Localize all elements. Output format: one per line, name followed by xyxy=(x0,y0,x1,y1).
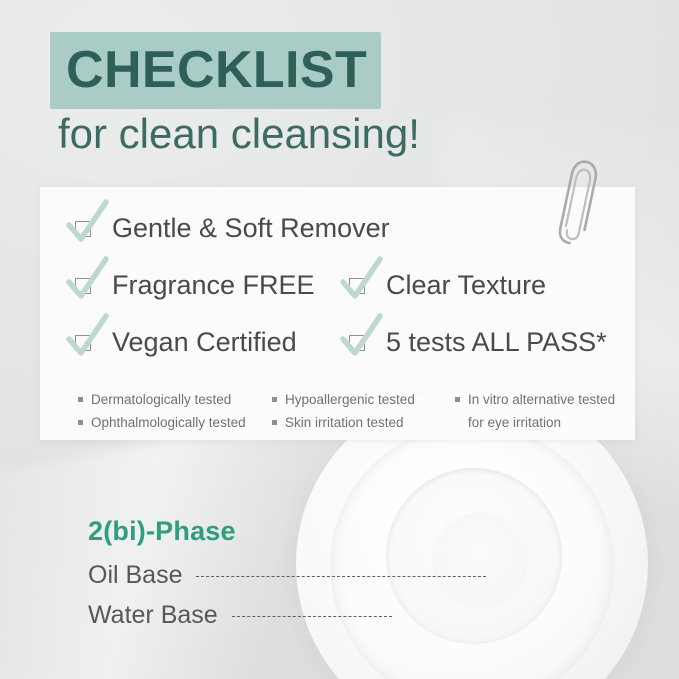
checkbox-square xyxy=(349,335,365,351)
phase-label: Water Base xyxy=(88,603,218,628)
checklist-item-label: Fragrance FREE xyxy=(112,272,315,299)
test-item-label: In vitro alternative tested xyxy=(468,388,615,411)
checklist-item-label: Vegan Certified xyxy=(112,329,297,356)
test-item: Dermatologically tested xyxy=(78,388,246,411)
checklist-item-label: Gentle & Soft Remover xyxy=(112,215,390,242)
phase-title: 2(bi)-Phase xyxy=(88,518,236,545)
test-item: In vitro alternative tested xyxy=(455,388,615,411)
cosmetic-pad-core xyxy=(432,512,528,608)
cosmetic-pad-rim xyxy=(330,424,614,679)
checklist-items: Gentle & Soft Remover Fragrance FREE Veg… xyxy=(40,187,635,362)
phase-label: Oil Base xyxy=(88,563,182,588)
checklist-item-clear-texture[interactable]: Clear Texture xyxy=(340,264,546,306)
bullet-icon xyxy=(455,397,460,402)
bullet-icon xyxy=(272,420,277,425)
checklist-item-label: Clear Texture xyxy=(386,272,546,299)
checkbox-clear-texture[interactable] xyxy=(340,264,382,306)
test-item-label: Skin irritation tested xyxy=(285,411,404,434)
checkbox-five-tests-all-pass[interactable] xyxy=(340,321,382,363)
checklist-item-fragrance-free[interactable]: Fragrance FREE xyxy=(66,264,315,306)
test-item-label: Ophthalmologically tested xyxy=(91,411,246,434)
checkbox-gentle-soft-remover[interactable] xyxy=(66,207,108,249)
page-title-text: CHECKLIST xyxy=(50,32,381,109)
phase-row-water-base: Water Base xyxy=(88,603,392,628)
bullet-icon xyxy=(78,397,83,402)
tests-column-2: Hypoallergenic tested Skin irritation te… xyxy=(272,388,415,434)
bullet-icon xyxy=(78,420,83,425)
phase-dash-line xyxy=(232,616,392,617)
checklist-item-gentle-soft-remover[interactable]: Gentle & Soft Remover xyxy=(66,207,390,249)
test-item: Hypoallergenic tested xyxy=(272,388,415,411)
test-item-label: for eye irritation xyxy=(468,411,561,434)
product-infographic: CHECKLIST for clean cleansing! Gentle & … xyxy=(0,0,679,679)
phase-row-oil-base: Oil Base xyxy=(88,563,486,588)
test-item-label: Hypoallergenic tested xyxy=(285,388,415,411)
test-item: Skin irritation tested xyxy=(272,411,415,434)
checkbox-square xyxy=(75,278,91,294)
checkbox-fragrance-free[interactable] xyxy=(66,264,108,306)
bullet-spacer xyxy=(455,420,460,425)
bullet-icon xyxy=(272,397,277,402)
checklist-item-vegan-certified[interactable]: Vegan Certified xyxy=(66,321,297,363)
page-title: CHECKLIST xyxy=(50,32,381,109)
checklist-item-label: 5 tests ALL PASS* xyxy=(386,329,607,356)
checkbox-square xyxy=(75,335,91,351)
checkbox-vegan-certified[interactable] xyxy=(66,321,108,363)
tests-column-3: In vitro alternative tested for eye irri… xyxy=(455,388,615,434)
checklist-item-five-tests-all-pass[interactable]: 5 tests ALL PASS* xyxy=(340,321,607,363)
test-item-continuation: for eye irritation xyxy=(455,411,615,434)
tests-column-1: Dermatologically tested Ophthalmological… xyxy=(78,388,246,434)
phase-dash-line xyxy=(196,576,486,577)
tests-list: Dermatologically tested Ophthalmological… xyxy=(40,388,635,440)
test-item-label: Dermatologically tested xyxy=(91,388,231,411)
page-subtitle: for clean cleansing! xyxy=(58,110,420,157)
checkbox-square xyxy=(349,278,365,294)
checkbox-square xyxy=(75,221,91,237)
test-item: Ophthalmologically tested xyxy=(78,411,246,434)
cosmetic-pad-inner xyxy=(386,468,562,644)
